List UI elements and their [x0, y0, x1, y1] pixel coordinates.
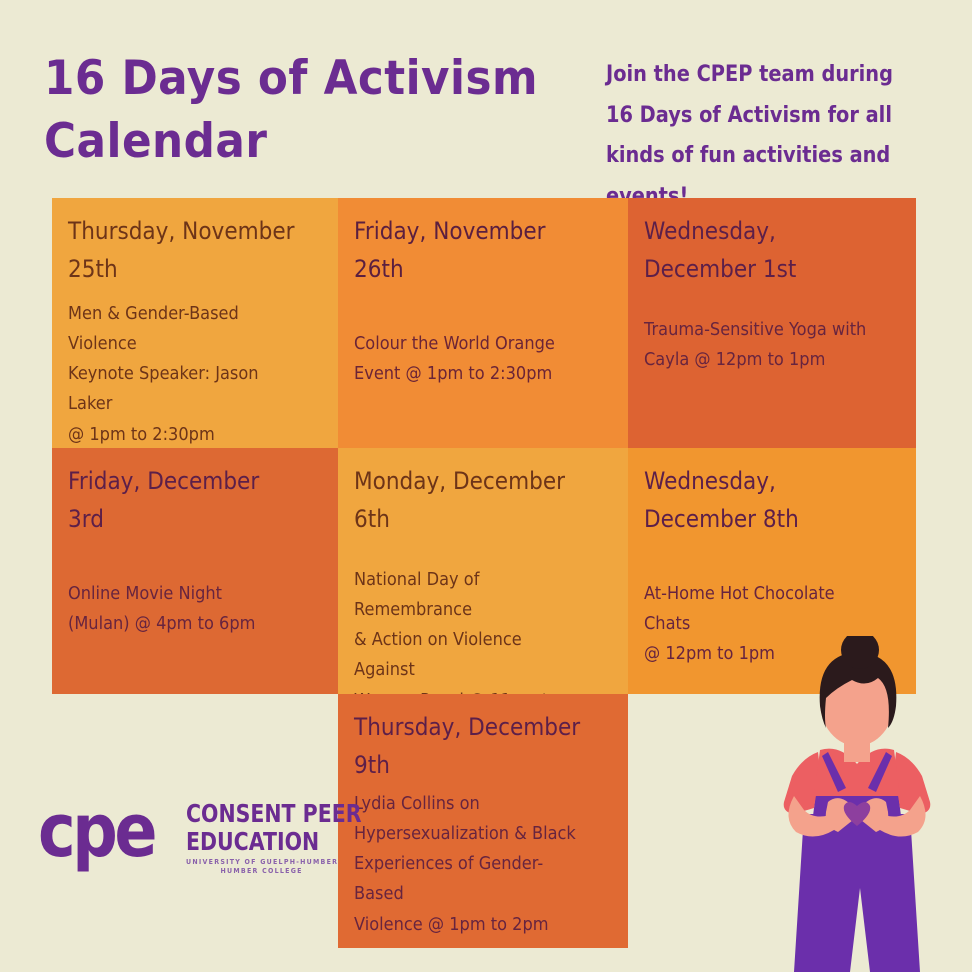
calendar-cell-nov-25[interactable]: Thursday, November 25th Men & Gender-Bas…: [52, 198, 338, 448]
calendar-cell-description: Men & Gender-Based Violence Keynote Spea…: [68, 299, 297, 448]
calendar-cell-description: National Day of Remembrance & Action on …: [354, 565, 586, 694]
cpe-logo-wordmark: CONSENT PEER EDUCATION UNIVERSITY OF GUE…: [186, 801, 366, 876]
calendar-cell-dec-6[interactable]: Monday, December 6th National Day of Rem…: [338, 448, 628, 694]
cpe-logo-line-4: HUMBER COLLEGE: [186, 867, 337, 876]
calendar-cell-description: Lydia Collins on Hypersexualization & Bl…: [354, 789, 586, 940]
poster-canvas: 16 Days of Activism Calendar Join the CP…: [0, 0, 972, 972]
calendar-cell-date: Thursday, December 9th: [354, 708, 586, 785]
calendar-cell-date: Wednesday, December 8th: [644, 462, 874, 539]
calendar-cell-date: Friday, November 26th: [354, 212, 586, 289]
calendar-cell-description: Trauma-Sensitive Yoga with Cayla @ 12pm …: [644, 315, 874, 375]
cpe-logo: cpe CONSENT PEER EDUCATION UNIVERSITY OF…: [38, 792, 330, 874]
overalls-legs: [794, 814, 920, 972]
cpe-logo-line-2: EDUCATION: [186, 829, 334, 854]
calendar-cell-date: Monday, December 6th: [354, 462, 586, 539]
calendar-cell-dec-3[interactable]: Friday, December 3rd Online Movie Night …: [52, 448, 338, 694]
cpe-logo-mark: cpe: [38, 794, 154, 868]
calendar-cell-date: Thursday, November 25th: [68, 212, 297, 289]
cpe-logo-line-1: CONSENT PEER: [186, 801, 334, 826]
calendar-cell-dec-1[interactable]: Wednesday, December 1st Trauma-Sensitive…: [628, 198, 916, 448]
calendar-cell-nov-26[interactable]: Friday, November 26th Colour the World O…: [338, 198, 628, 448]
calendar-cell-dec-9[interactable]: Thursday, December 9th Lydia Collins on …: [338, 694, 628, 948]
calendar-cell-description: Online Movie Night (Mulan) @ 4pm to 6pm: [68, 579, 297, 639]
cpe-logo-line-3: UNIVERSITY OF GUELPH-HUMBER: [186, 858, 348, 867]
calendar-cell-date: Wednesday, December 1st: [644, 212, 874, 289]
page-subtitle: Join the CPEP team during 16 Days of Act…: [606, 55, 918, 218]
calendar-cell-description: Colour the World Orange Event @ 1pm to 2…: [354, 329, 586, 389]
page-title: 16 Days of Activism Calendar: [44, 48, 551, 174]
calendar-cell-date: Friday, December 3rd: [68, 462, 297, 539]
person-illustration-svg: [742, 636, 972, 972]
person-making-heart-hands-illustration: [742, 636, 972, 972]
